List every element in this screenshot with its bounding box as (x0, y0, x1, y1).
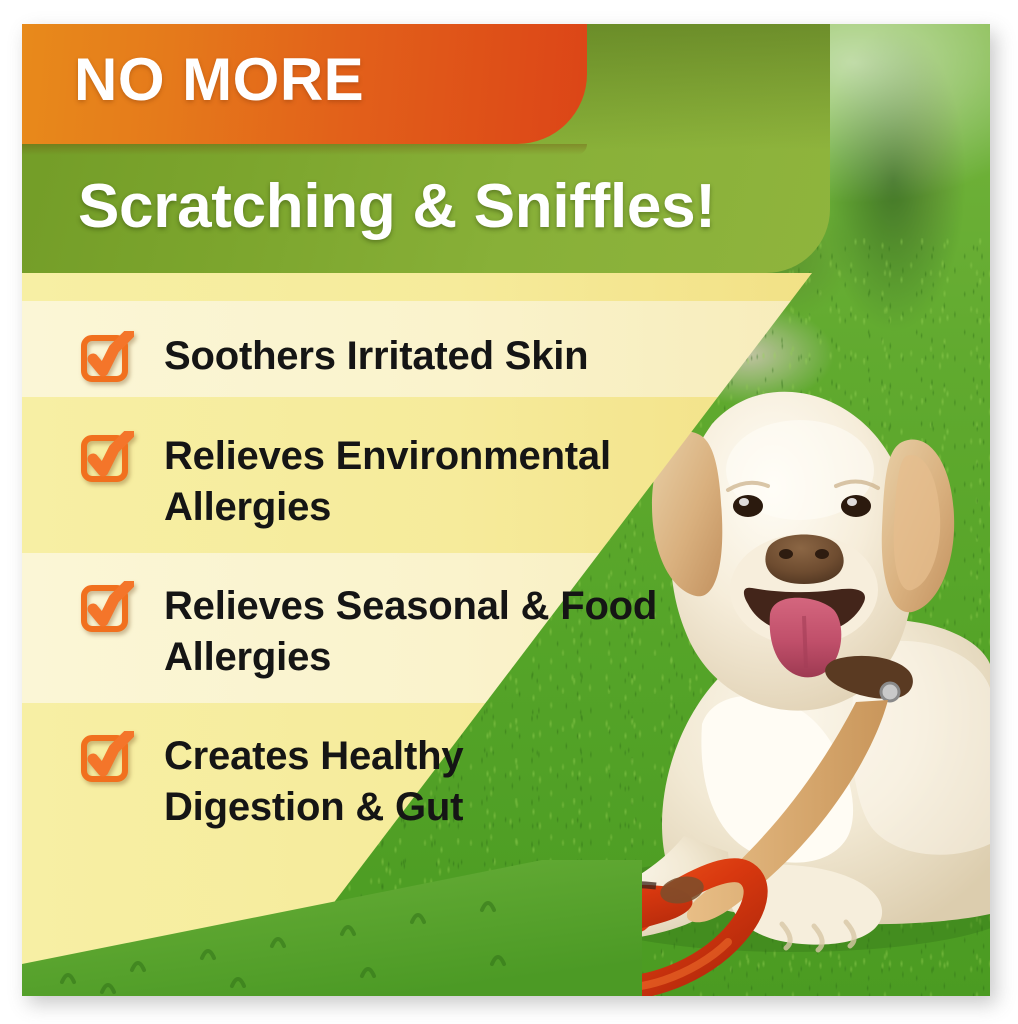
checkbox-check-icon (80, 731, 134, 783)
poster-canvas: NO MORE Scratching & Sniffles! Soothers … (0, 0, 1018, 1024)
checkbox-check-icon (80, 331, 134, 383)
headline-scratching-sniffles: Scratching & Sniffles! (78, 176, 716, 238)
benefit-label: Relieves Environmental Allergies (164, 431, 724, 533)
benefit-item: Creates Healthy Digestion & Gut (80, 731, 584, 833)
benefit-list: Soothers Irritated Skin Relieves Environ… (22, 273, 812, 996)
benefit-item: Relieves Environmental Allergies (80, 431, 724, 533)
headline-no-more: NO MORE (74, 50, 364, 110)
benefit-label: Soothers Irritated Skin (164, 331, 588, 382)
benefit-label: Creates Healthy Digestion & Gut (164, 731, 584, 833)
poster-card: NO MORE Scratching & Sniffles! Soothers … (22, 24, 990, 996)
checkbox-check-icon (80, 581, 134, 633)
checkbox-check-icon (80, 431, 134, 483)
benefit-label: Relieves Seasonal & Food Allergies (164, 581, 664, 683)
benefit-item: Relieves Seasonal & Food Allergies (80, 581, 664, 683)
benefit-item: Soothers Irritated Skin (80, 331, 588, 383)
